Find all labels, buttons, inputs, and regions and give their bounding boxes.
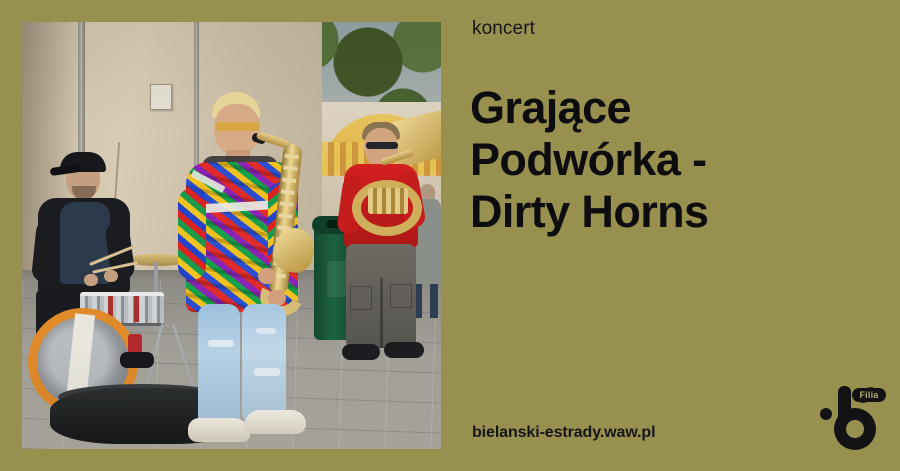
white-sneaker	[188, 418, 250, 442]
tuba-valves	[368, 188, 408, 214]
tuba-player	[340, 118, 441, 368]
jeans-rip	[254, 368, 280, 376]
saxophonist	[172, 78, 352, 449]
logo-b-counter	[846, 420, 864, 438]
tuba-player-shoe	[384, 342, 424, 358]
sunglasses-icon	[216, 122, 260, 131]
photo-scene	[22, 22, 441, 449]
cargo-pocket	[390, 284, 412, 308]
cargo-pocket	[350, 286, 372, 310]
headline-line-3: Dirty Horns	[470, 186, 882, 238]
snare-lug	[134, 296, 139, 322]
headline-line-2: Podwórka -	[470, 134, 882, 186]
drummer-hand	[104, 270, 118, 282]
jeans-leg	[198, 304, 240, 428]
event-category-label: koncert	[472, 18, 535, 40]
page-title: Grające Podwórka - Dirty Horns	[470, 82, 882, 238]
wall-plaque	[150, 84, 172, 110]
saxophonist-hand	[258, 268, 276, 284]
concert-photo	[22, 22, 441, 449]
pants-seam	[380, 278, 383, 348]
bielanski-osrodek-kultury-logo[interactable]: Filia	[812, 386, 888, 452]
jeans-leg	[242, 304, 286, 422]
website-url[interactable]: bielanski-estrady.waw.pl	[472, 424, 655, 442]
logo-dot	[820, 408, 832, 420]
white-sneaker	[244, 410, 306, 434]
headline-line-1: Grające	[470, 82, 882, 134]
jeans-rip	[208, 340, 234, 347]
poster-canvas: koncert Grające Podwórka - Dirty Horns b…	[0, 0, 900, 471]
drummer-shoe	[120, 352, 154, 368]
sunglasses-icon	[366, 142, 398, 149]
saxophonist-arm-left	[178, 188, 206, 280]
drummer-hand	[84, 274, 98, 286]
jeans-rip	[256, 328, 276, 334]
logo-filia-badge: Filia	[852, 388, 886, 402]
